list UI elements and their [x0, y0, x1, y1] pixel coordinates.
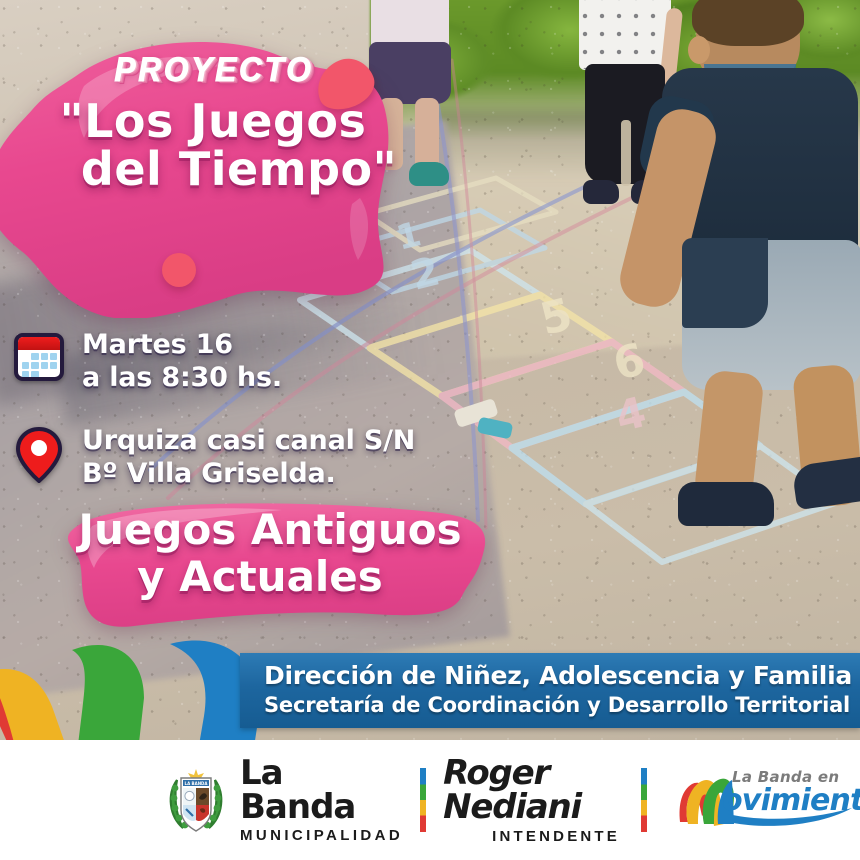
location-text: Urquiza casi canal S/N Bº Villa Griselda…	[82, 423, 415, 491]
municipality-logo-text: La Banda MUNICIPALIDAD	[240, 756, 403, 844]
schedule-row: Martes 16 a las 8:30 hs.	[12, 327, 532, 395]
mayor-name: Roger Nediani	[443, 756, 624, 824]
child-right	[648, 0, 860, 530]
child-center-shoe-left	[583, 180, 619, 204]
logo-divider-1	[420, 768, 426, 832]
map-pin-icon	[12, 423, 68, 483]
child-right-shorts-shadow	[682, 238, 768, 328]
poster: 5 6 4 3 2 1	[0, 0, 860, 860]
footer-logo-bar: LA BANDA La Banda MUNICIPALIDAD Roger Ne…	[0, 740, 860, 860]
coat-of-arms-icon: LA BANDA	[165, 764, 227, 836]
movimiento-logo: La Banda en ovimiento	[670, 764, 860, 836]
location-row: Urquiza casi canal S/N Bº Villa Griselda…	[12, 423, 532, 491]
org-banner: Dirección de Niñez, Adolescencia y Famil…	[240, 653, 860, 728]
calendar-icon	[12, 327, 68, 387]
svg-text:5: 5	[535, 289, 577, 346]
movimiento-main-text: ovimiento	[722, 783, 860, 818]
schedule-line-1: Martes 16	[82, 329, 282, 362]
project-kicker: PROYECTO	[102, 53, 325, 87]
municipality-subtitle: MUNICIPALIDAD	[240, 827, 403, 844]
title-line-2: del Tiempo"	[20, 146, 400, 192]
highlight-line-2: y Actuales	[40, 555, 480, 599]
child-left-leg-right	[415, 98, 439, 170]
schedule-text: Martes 16 a las 8:30 hs.	[82, 327, 282, 395]
org-line-1: Dirección de Niñez, Adolescencia y Famil…	[264, 661, 852, 690]
child-right-shoe-left	[678, 482, 774, 526]
event-info: Martes 16 a las 8:30 hs. Urquiza casi ca…	[12, 327, 532, 519]
coral-dot-accent	[162, 253, 196, 287]
municipality-name: La Banda	[240, 756, 403, 824]
highlight-line-1: Juegos Antiguos	[40, 508, 480, 552]
location-line-1: Urquiza casi canal S/N	[82, 425, 415, 458]
mayor-logo-text: Roger Nediani INTENDENTE	[443, 756, 624, 845]
schedule-line-2: a las 8:30 hs.	[82, 362, 282, 395]
child-right-ear	[688, 36, 710, 64]
page-title: "Los Juegos del Tiempo"	[20, 98, 400, 192]
mayor-title: INTENDENTE	[443, 828, 624, 845]
child-center-leg-gap	[621, 120, 631, 186]
location-line-2: Bº Villa Griselda.	[82, 458, 415, 491]
child-right-hair	[692, 0, 804, 46]
child-left-shoe	[409, 162, 449, 186]
svg-text:6: 6	[608, 334, 650, 391]
highlight-text: Juegos Antiguos y Actuales	[40, 508, 480, 599]
title-line-1: "Los Juegos	[20, 98, 400, 144]
org-line-2: Secretaría de Coordinación y Desarrollo …	[264, 693, 850, 717]
svg-text:4: 4	[611, 387, 651, 442]
escudo-label: LA BANDA	[185, 781, 209, 786]
logo-divider-2	[641, 768, 647, 832]
